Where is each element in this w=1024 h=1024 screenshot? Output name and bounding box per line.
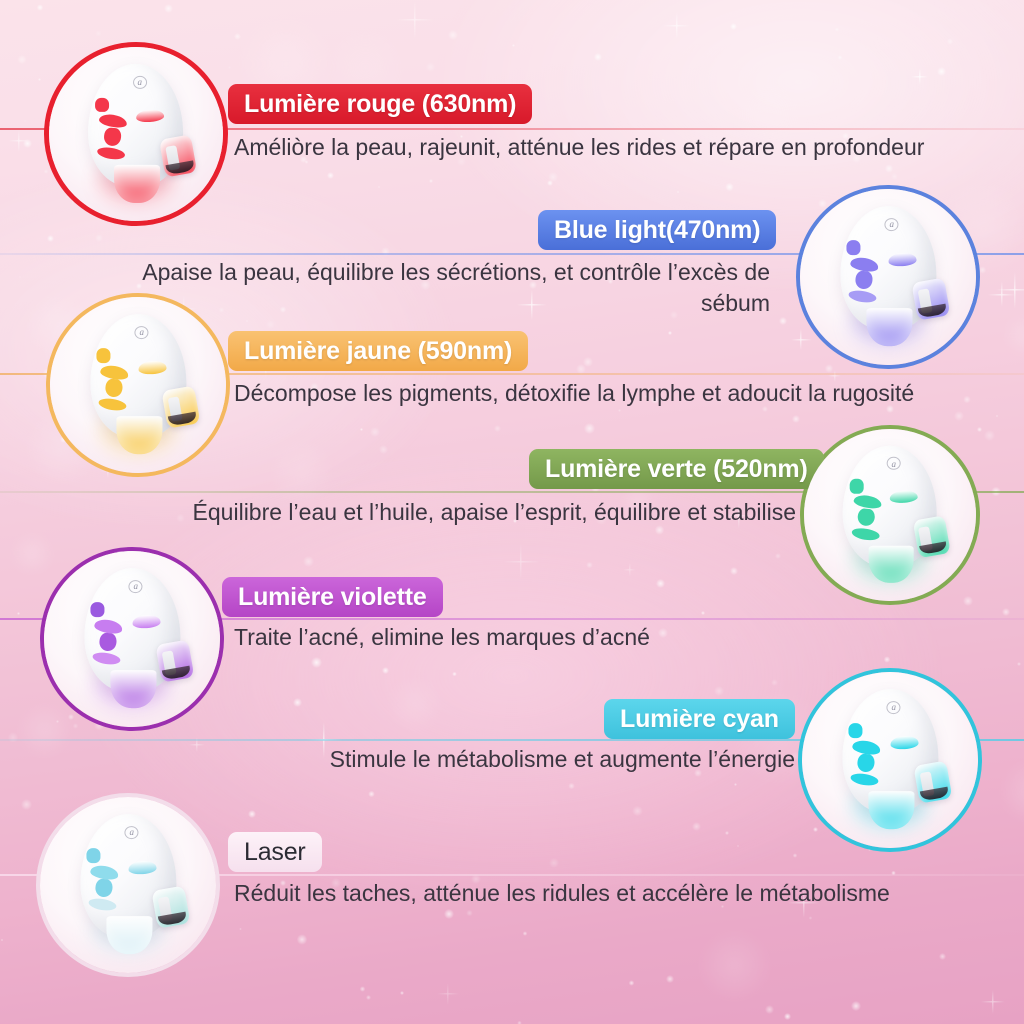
- label-blue[interactable]: Blue light(470nm): [538, 210, 776, 250]
- mask-neck: [114, 165, 159, 203]
- mask-image-violet: a: [44, 551, 220, 727]
- mask-side-led: [87, 848, 101, 863]
- mask-side-led: [849, 723, 863, 738]
- label-cyan[interactable]: Lumière cyan: [604, 699, 795, 739]
- description-green: Équilibre l’eau et l’huile, apaise l’esp…: [150, 497, 796, 528]
- mask-image-blue: a: [800, 189, 976, 365]
- label-green[interactable]: Lumière verte (520nm): [529, 449, 824, 489]
- brand-logo-icon: a: [133, 76, 147, 89]
- mask-image-cyan: a: [802, 672, 978, 848]
- description-red: Améliòre la peau, rajeunit, atténue les …: [234, 132, 934, 163]
- description-yellow: Décompose les pigments, détoxifie la lym…: [234, 378, 934, 409]
- description-laser: Réduit les taches, atténue les ridules e…: [234, 878, 934, 909]
- mask-strap: [155, 639, 194, 683]
- mask-side-led: [847, 240, 861, 255]
- label-laser[interactable]: Laser: [228, 832, 322, 872]
- mask-side-led: [97, 348, 111, 363]
- label-red[interactable]: Lumière rouge (630nm): [228, 84, 532, 124]
- mask-image-laser: a: [40, 797, 216, 973]
- mask-image-yellow: a: [50, 297, 226, 473]
- mask-side-led: [95, 97, 109, 112]
- description-violet: Traite l’acné, elimine les marques d’acn…: [234, 622, 854, 653]
- mask-image-red: a: [49, 47, 223, 221]
- mask-strap: [913, 760, 952, 804]
- label-yellow[interactable]: Lumière jaune (590nm): [228, 331, 528, 371]
- label-violet[interactable]: Lumière violette: [222, 577, 443, 617]
- mask-strap: [159, 134, 197, 177]
- mask-strap: [913, 515, 951, 558]
- mask-image-green: a: [804, 429, 976, 601]
- description-cyan: Stimule le métabolisme et augmente l’éne…: [250, 744, 795, 775]
- mask-side-led: [91, 602, 105, 617]
- mask-strap: [911, 277, 950, 321]
- mask-side-led: [849, 479, 863, 493]
- description-blue: Apaise la peau, équilibre les sécrétions…: [120, 257, 770, 318]
- mask-strap: [161, 385, 200, 429]
- mask-strap: [151, 885, 190, 929]
